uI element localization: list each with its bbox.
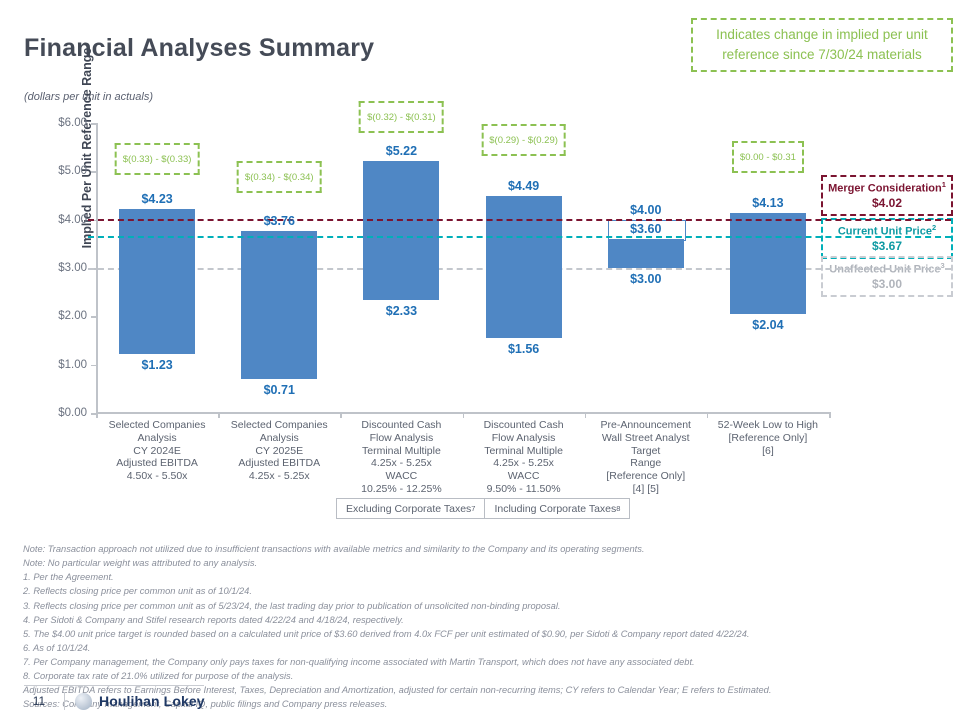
reference-label-unaffected-unit-price: Unaffected Unit Price3 $3.00 [821, 256, 953, 297]
y-axis-tick-mark [91, 171, 96, 173]
legend-line-1: Indicates change in implied per unit [716, 25, 928, 45]
bar-range[interactable] [486, 196, 562, 338]
bar-range[interactable] [119, 209, 195, 354]
change-callout: $0.00 - $0.31 [732, 141, 804, 173]
tax-treatment-box: Including Corporate Taxes8 [485, 498, 630, 519]
reference-line-current-unit-price [88, 236, 951, 238]
bar-low-label: $0.71 [264, 383, 295, 397]
slide: Financial Analyses Summary (dollars per … [0, 0, 960, 720]
footnotes: Note: Transaction approach not utilized … [23, 542, 938, 712]
tax-treatment-box: Excluding Corporate Taxes7 [336, 498, 485, 519]
reference-label-current-unit-price: Current Unit Price2 $3.67 [821, 218, 953, 259]
footnote-line: 7. Per Company management, the Company o… [23, 655, 938, 669]
houlihan-lokey-logo-icon [75, 693, 92, 710]
bar-high-label: $3.60 [630, 222, 661, 236]
bar-high-label: $4.13 [752, 196, 783, 210]
footnote-line: Note: No particular weight was attribute… [23, 556, 938, 570]
slide-footer: 11 Houlihan Lokey [24, 688, 205, 714]
bar-low-label: $2.33 [386, 304, 417, 318]
y-axis-tick-label: $3.00 [58, 262, 87, 274]
legend-callout: Indicates change in implied per unit ref… [691, 18, 953, 72]
bar-range[interactable] [730, 213, 806, 314]
y-axis-tick-label: $5.00 [58, 165, 87, 177]
legend-line-2: reference since 7/30/24 materials [722, 45, 922, 65]
x-axis-category-label: 52-Week Low to High [Reference Only] [6] [710, 419, 826, 457]
tax-treatment-label: Including Corporate Taxes [494, 503, 616, 515]
x-axis-tick-mark [340, 412, 342, 418]
chart-plot-area: Implied Per Unit Reference Range $6.00$5… [96, 123, 829, 413]
reference-label-current-value: $3.67 [872, 239, 902, 254]
tax-treatment-superscript: 7 [471, 504, 475, 513]
reference-label-merger-title: Merger Consideration1 [828, 180, 946, 196]
y-axis-tick-mark [91, 365, 96, 367]
houlihan-lokey-wordmark: Houlihan Lokey [99, 693, 205, 709]
footnote-line: 3. Reflects closing price per common uni… [23, 599, 938, 613]
bar-low-label: $1.23 [141, 358, 172, 372]
bar-range[interactable] [241, 231, 317, 378]
x-axis-category-label: Discounted Cash Flow Analysis Terminal M… [466, 419, 582, 496]
bar-extra-marker-label: $4.00 [630, 203, 661, 217]
x-axis-tick-mark [585, 412, 587, 418]
bar-high-label: $4.23 [141, 192, 172, 206]
reference-label-superscript: 1 [942, 180, 946, 189]
y-axis-tick-label: $0.00 [58, 407, 87, 419]
footer-divider-rule [24, 685, 204, 686]
page-number: 11 [24, 694, 54, 708]
x-axis-tick-mark [707, 412, 709, 418]
y-axis-tick-label: $6.00 [58, 117, 87, 129]
bar-low-label: $3.00 [630, 272, 661, 286]
x-axis-tick-mark [463, 412, 465, 418]
x-axis-category-label: Discounted Cash Flow Analysis Terminal M… [343, 419, 459, 496]
bar-low-label: $2.04 [752, 318, 783, 332]
reference-label-unaffected-value: $3.00 [872, 277, 902, 292]
footer-separator [64, 692, 65, 710]
y-axis-tick-label: $4.00 [58, 214, 87, 226]
footnote-line: 6. As of 10/1/24. [23, 641, 938, 655]
bar-range[interactable] [363, 161, 439, 301]
footnote-line: 4. Per Sidoti & Company and Stifel resea… [23, 613, 938, 627]
bar-high-label: $4.49 [508, 179, 539, 193]
x-axis-tick-mark [829, 412, 831, 418]
reference-label-merger-value: $4.02 [872, 196, 902, 211]
bar-low-label: $1.56 [508, 342, 539, 356]
x-axis-category-label: Pre-Announcement Wall Street Analyst Tar… [588, 419, 704, 496]
change-callout: $(0.29) - $(0.29) [481, 124, 566, 156]
bar-high-label: $3.76 [264, 214, 295, 228]
tax-treatment-superscript: 8 [616, 504, 620, 513]
footnote-line: 8. Corporate tax rate of 21.0% utilized … [23, 669, 938, 683]
y-axis-tick-label: $2.00 [58, 310, 87, 322]
y-axis-tick-label: $1.00 [58, 359, 87, 371]
tax-treatment-label: Excluding Corporate Taxes [346, 503, 471, 515]
reference-label-superscript: 2 [932, 223, 936, 232]
page-title: Financial Analyses Summary [24, 34, 374, 63]
change-callout: $(0.34) - $(0.34) [237, 161, 322, 193]
reference-label-merger-consideration: Merger Consideration1 $4.02 [821, 175, 953, 216]
bar-range[interactable] [608, 239, 684, 268]
footnote-line: 2. Reflects closing price per common uni… [23, 584, 938, 598]
tax-treatment-boxes: Excluding Corporate Taxes7Including Corp… [336, 498, 630, 519]
footnote-line: Note: Transaction approach not utilized … [23, 542, 938, 556]
change-callout: $(0.33) - $(0.33) [115, 143, 200, 175]
footnote-line: 5. The $4.00 unit price target is rounde… [23, 627, 938, 641]
change-callout: $(0.32) - $(0.31) [359, 101, 444, 133]
x-axis-tick-mark [96, 412, 98, 418]
x-axis-category-label: Selected Companies Analysis CY 2025E Adj… [221, 419, 337, 483]
bar-high-label: $5.22 [386, 144, 417, 158]
footnote-line: 1. Per the Agreement. [23, 570, 938, 584]
y-axis-tick-mark [91, 123, 96, 125]
reference-line-merger-consideration [88, 219, 951, 221]
x-axis-category-label: Selected Companies Analysis CY 2024E Adj… [99, 419, 215, 483]
x-axis-tick-mark [218, 412, 220, 418]
y-axis-tick-mark [91, 316, 96, 318]
